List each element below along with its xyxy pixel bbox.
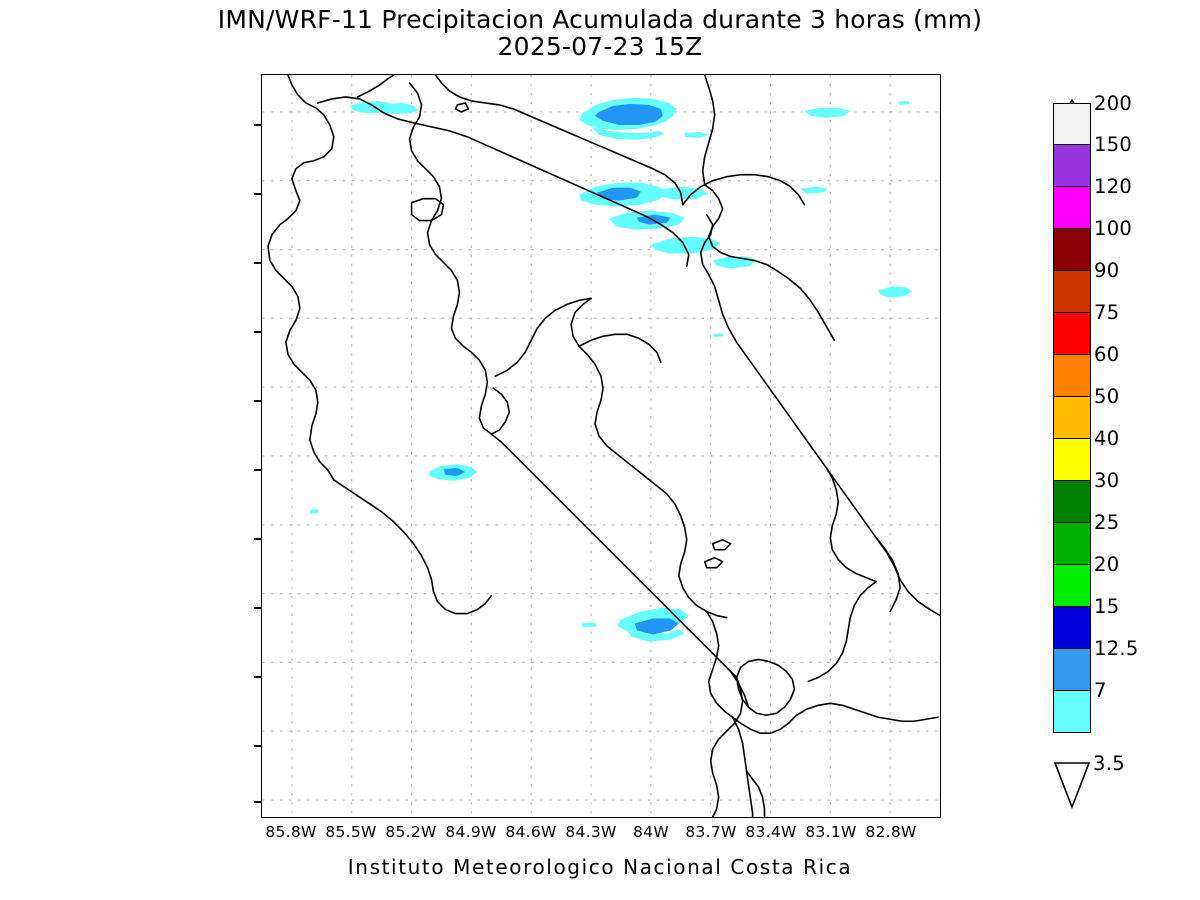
precip-cell-caribbean-offshore-mid [800, 187, 828, 194]
x-tick-label-85-8W: 85.8W [265, 823, 316, 841]
precip-streak-east-north [685, 132, 709, 138]
precip-cell-golfo-dulce [617, 608, 689, 642]
x-tick-label-84-9W: 84.9W [445, 823, 496, 841]
colorbar-under-arrow [1053, 761, 1091, 809]
x-tick-label-85-5W: 85.5W [325, 823, 376, 841]
colorbar-band-150[interactable]: 150 [1053, 145, 1091, 187]
colorbar-band-12-5[interactable]: 12.5 [1053, 649, 1091, 691]
y-tick-mark [254, 538, 261, 540]
figure-title-block: IMN/WRF-11 Precipitacion Acumulada duran… [0, 6, 1200, 60]
colorbar-label-200: 200 [1094, 92, 1132, 115]
colorbar-label-25: 25 [1094, 511, 1119, 534]
figure-subtitle: 2025-07-23 15Z [0, 33, 1200, 60]
x-tick-label-85-2W: 85.2W [385, 823, 436, 841]
y-tick-mark [254, 331, 261, 333]
colorbar-band-200[interactable]: 200 [1053, 103, 1091, 145]
colorbar-label-7: 7 [1094, 679, 1107, 702]
colorbar-label-60: 60 [1094, 343, 1119, 366]
precip-cell-tortuguero [609, 211, 685, 230]
colorbar-label-20: 20 [1094, 553, 1119, 576]
colorbar-band-7[interactable]: 7 [1053, 691, 1091, 733]
colorbar-band-120[interactable]: 120 [1053, 187, 1091, 229]
y-tick-mark [254, 124, 261, 126]
x-tick-label-83-7W: 83.7W [685, 823, 736, 841]
map-canvas [262, 75, 940, 817]
y-tick-mark [254, 607, 261, 609]
colorbar-label-150: 150 [1094, 133, 1132, 156]
precip-cell-north-guanacaste [350, 101, 419, 114]
x-tick-label-83-1W: 83.1W [805, 823, 856, 841]
precip-cell-caribbean-offshore-north [804, 108, 850, 118]
x-tick-label-82-8W: 82.8W [865, 823, 916, 841]
colorbar-band-90[interactable]: 90 [1053, 271, 1091, 313]
colorbar-band-50[interactable]: 50 [1053, 397, 1091, 439]
precip-cell-pacific-nicoya [430, 464, 478, 481]
y-tick-mark [254, 745, 261, 747]
colorbar-band-30[interactable]: 30 [1053, 481, 1091, 523]
map-plot-area [261, 74, 941, 818]
colorbar-label-50: 50 [1094, 385, 1119, 408]
colorbar-label-40: 40 [1094, 427, 1119, 450]
y-tick-mark [254, 676, 261, 678]
precip-cell-san-carlos [579, 98, 677, 140]
colorbar-label-15: 15 [1094, 595, 1119, 618]
y-tick-mark [254, 193, 261, 195]
precip-streak-pacific-south [581, 623, 597, 628]
colorbar-label-30: 30 [1094, 469, 1119, 492]
precip-dot-central-valley [713, 333, 724, 337]
colorbar-label-90: 90 [1094, 259, 1119, 282]
figure-title: IMN/WRF-11 Precipitacion Acumulada duran… [0, 6, 1200, 33]
colorbar-band-25[interactable]: 25 [1053, 523, 1091, 565]
x-tick-label-83-4W: 83.4W [745, 823, 796, 841]
colorbar-band-15[interactable]: 15 [1053, 607, 1091, 649]
colorbar-band-40[interactable]: 40 [1053, 439, 1091, 481]
y-tick-mark [254, 262, 261, 264]
precip-streak-far-northeast [898, 101, 910, 105]
colorbar-label-12-5: 12.5 [1094, 637, 1139, 660]
precipitation-field [310, 98, 912, 642]
y-tick-mark [254, 801, 261, 803]
precip-cell-caribbean-coast [651, 237, 757, 269]
weather-map-figure: IMN/WRF-11 Precipitacion Acumulada duran… [0, 0, 1200, 900]
colorbar: 200 150 120 100 90 75 60 50 40 30 25 [1053, 103, 1091, 733]
x-tick-label-84W: 84W [633, 823, 669, 841]
x-tick-label-84-6W: 84.6W [505, 823, 556, 841]
y-tick-mark [254, 469, 261, 471]
colorbar-label-120: 120 [1094, 175, 1132, 198]
colorbar-label-3-5: 3.5 [1093, 752, 1125, 775]
precip-dot-nicoya-north [310, 509, 319, 514]
y-tick-mark [254, 400, 261, 402]
colorbar-band-75[interactable]: 75 [1053, 313, 1091, 355]
x-tick-label-84-3W: 84.3W [565, 823, 616, 841]
colorbar-band-20[interactable]: 20 [1053, 565, 1091, 607]
colorbar-band-60[interactable]: 60 [1053, 355, 1091, 397]
colorbar-label-75: 75 [1094, 301, 1119, 324]
precip-cell-caribbean-sea [878, 286, 912, 297]
colorbar-label-100: 100 [1094, 217, 1132, 240]
figure-footer: Instituto Meteorologico Nacional Costa R… [0, 855, 1200, 879]
colorbar-band-100[interactable]: 100 [1053, 229, 1091, 271]
